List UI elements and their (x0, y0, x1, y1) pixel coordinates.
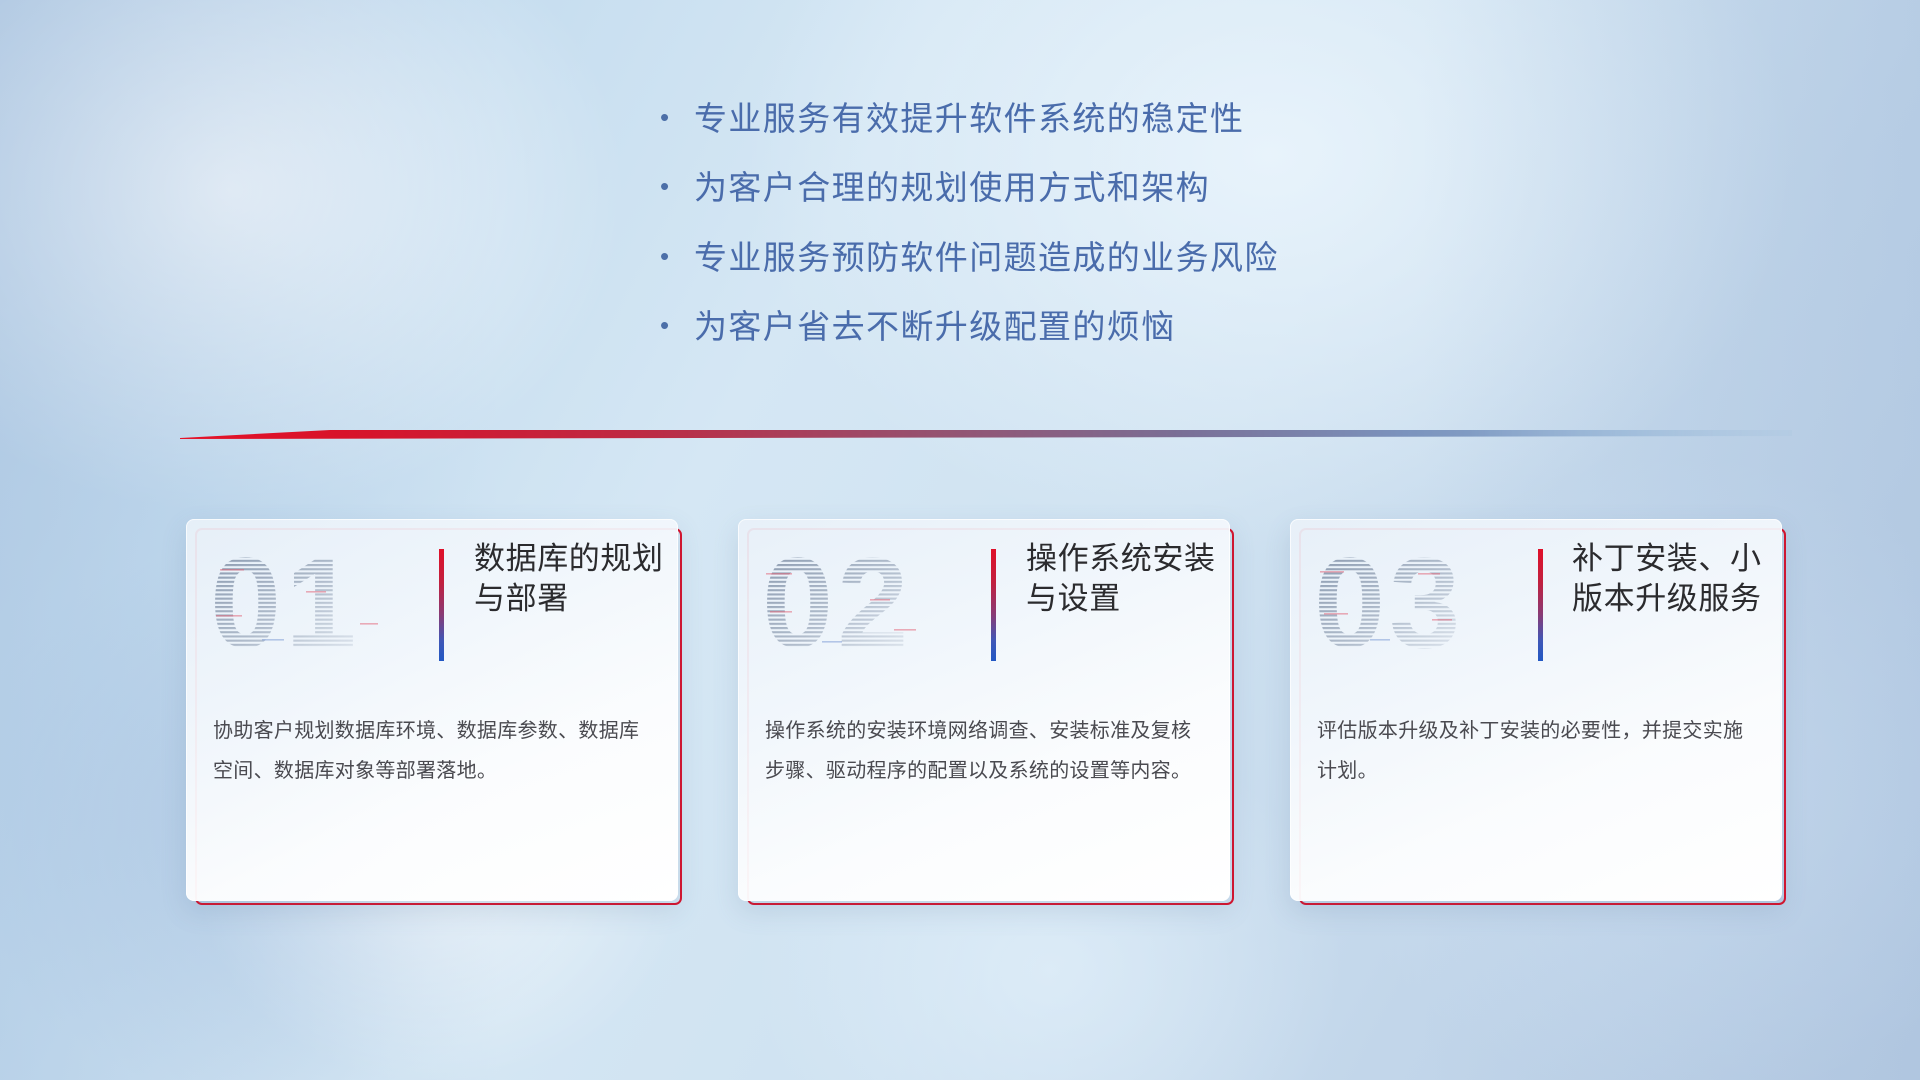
card-panel: 02 操作系统安装 (738, 519, 1230, 901)
card-divider-bar (439, 549, 444, 661)
svg-text:01: 01 (210, 543, 360, 667)
bullet-item: • 专业服务预防软件问题造成的业务风险 (660, 239, 1720, 277)
bullet-item: • 专业服务有效提升软件系统的稳定性 (660, 100, 1720, 138)
card-number-01-icon: 01 (210, 543, 426, 667)
service-card[interactable]: 01 数据库的规划 (186, 519, 678, 901)
service-card[interactable]: 03 补丁安装、小 (1290, 519, 1782, 901)
card-title: 补丁安装、小 版本升级服务 (1572, 539, 1782, 620)
svg-text:02: 02 (762, 543, 912, 667)
slide-root: • 专业服务有效提升软件系统的稳定性 • 为客户合理的规划使用方式和架构 • 专… (0, 0, 1920, 1080)
card-header: 03 补丁安装、小 (1290, 519, 1782, 695)
card-number-02-icon: 02 (762, 543, 978, 667)
bullet-text: 为客户合理的规划使用方式和架构 (694, 169, 1210, 207)
bullet-text: 专业服务预防软件问题造成的业务风险 (694, 239, 1279, 277)
card-description: 评估版本升级及补丁安装的必要性，并提交实施计划。 (1317, 711, 1758, 792)
card-description: 协助客户规划数据库环境、数据库参数、数据库空间、数据库对象等部署落地。 (213, 711, 654, 792)
card-title-line2: 版本升级服务 (1572, 579, 1782, 619)
bullet-dot-icon: • (660, 243, 694, 269)
card-title-line2: 与设置 (1026, 579, 1226, 619)
bullet-text: 为客户省去不断升级配置的烦恼 (694, 308, 1176, 346)
bullet-dot-icon: • (660, 173, 694, 199)
bullet-dot-icon: • (660, 312, 694, 338)
card-number-03-icon: 03 (1314, 543, 1530, 667)
card-title-line1: 补丁安装、小 (1572, 539, 1782, 579)
card-title-line1: 数据库的规划 (474, 539, 674, 579)
card-panel: 01 数据库的规划 (186, 519, 678, 901)
card-divider-bar (1538, 549, 1543, 661)
card-divider-bar (991, 549, 996, 661)
card-panel: 03 补丁安装、小 (1290, 519, 1782, 901)
bullet-text: 专业服务有效提升软件系统的稳定性 (694, 100, 1244, 138)
card-title: 数据库的规划 与部署 (474, 539, 674, 620)
card-title-line2: 与部署 (474, 579, 674, 619)
svg-text:03: 03 (1314, 543, 1464, 667)
card-header: 01 数据库的规划 (186, 519, 678, 695)
benefit-bullet-list: • 专业服务有效提升软件系统的稳定性 • 为客户合理的规划使用方式和架构 • 专… (660, 100, 1720, 377)
card-title: 操作系统安装 与设置 (1026, 539, 1226, 620)
service-card[interactable]: 02 操作系统安装 (738, 519, 1230, 901)
bullet-item: • 为客户省去不断升级配置的烦恼 (660, 308, 1720, 346)
card-description: 操作系统的安装环境网络调查、安装标准及复核步骤、驱动程序的配置以及系统的设置等内… (765, 711, 1206, 792)
card-title-line1: 操作系统安装 (1026, 539, 1226, 579)
card-header: 02 操作系统安装 (738, 519, 1230, 695)
bullet-item: • 为客户合理的规划使用方式和架构 (660, 169, 1720, 207)
bullet-dot-icon: • (660, 104, 694, 130)
section-divider (180, 424, 1792, 446)
service-card-group: 01 数据库的规划 (186, 519, 1806, 919)
